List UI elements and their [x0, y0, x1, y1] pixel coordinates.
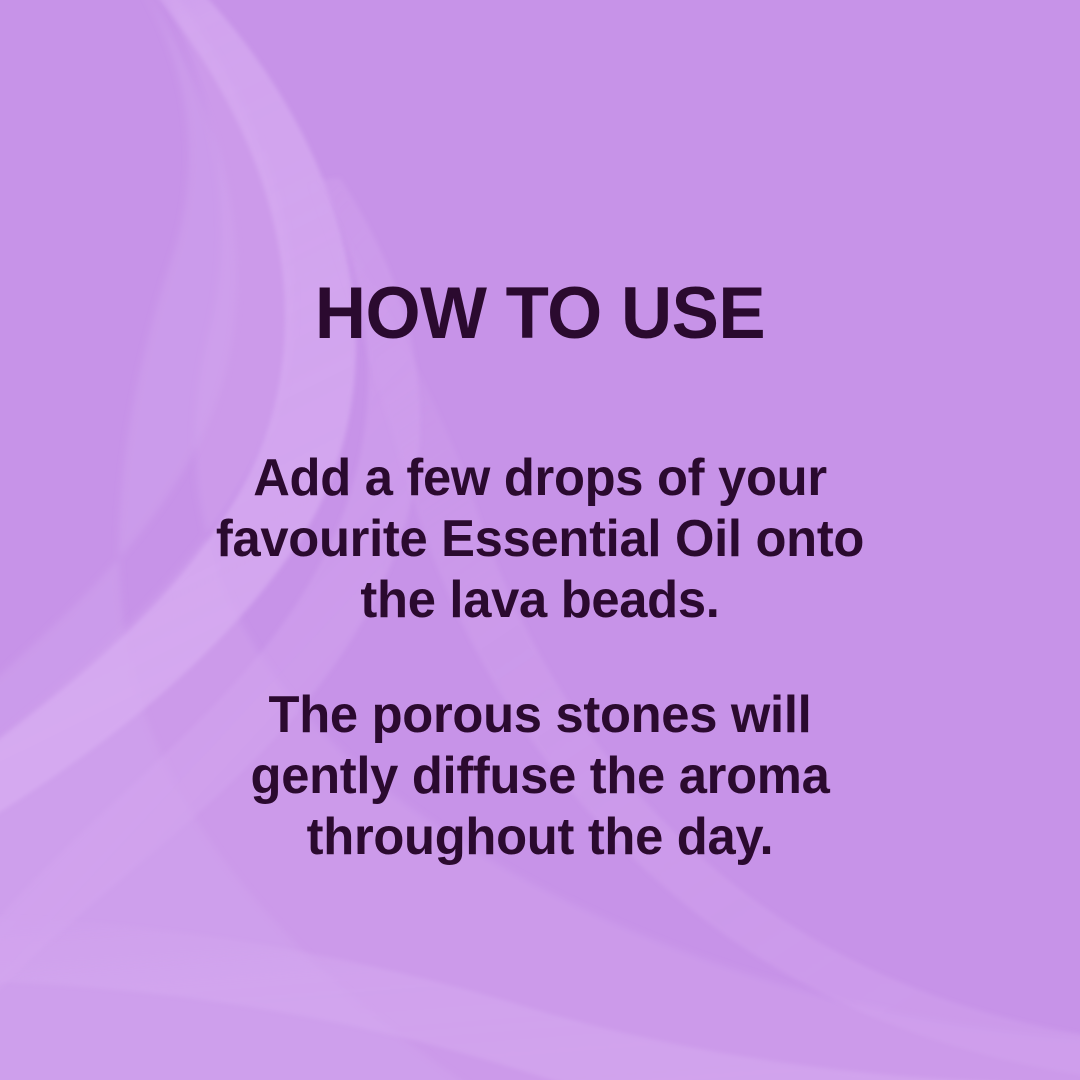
- card-content: HOW TO USE Add a few drops of your favou…: [0, 0, 1080, 1080]
- instruction-paragraph-2: The porous stones will gently diffuse th…: [14, 685, 1067, 868]
- how-to-use-card: HOW TO USE Add a few drops of your favou…: [0, 0, 1080, 1080]
- instruction-paragraph-1: Add a few drops of your favourite Essent…: [14, 448, 1067, 631]
- page-title: HOW TO USE: [16, 277, 1064, 350]
- body-copy: Add a few drops of your favourite Essent…: [0, 396, 1080, 920]
